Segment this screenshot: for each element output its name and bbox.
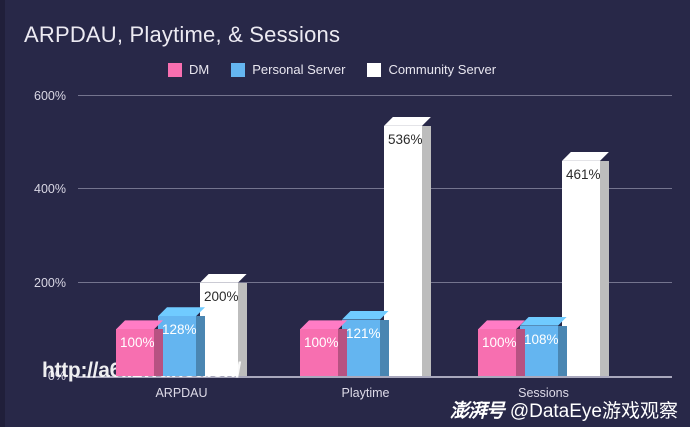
bar-side-face (422, 126, 431, 376)
legend-label: Personal Server (252, 62, 345, 77)
bar[interactable]: 100% (116, 329, 154, 376)
bar-side-face (338, 329, 347, 376)
bar-side-face (154, 329, 163, 376)
bar[interactable]: 121% (342, 320, 380, 376)
bar-top-face (158, 307, 205, 316)
legend-swatch-icon (367, 63, 381, 77)
bar-top-face (200, 274, 247, 283)
legend-label: DM (189, 62, 209, 77)
bar[interactable]: 100% (478, 329, 516, 376)
bar-group: 100%128%200%ARPDAU (116, 96, 247, 376)
bar-value-label: 100% (482, 335, 517, 350)
plot-area: 0%200%400%600%100%128%200%ARPDAU100%121%… (78, 96, 672, 376)
bar[interactable]: 100% (300, 329, 338, 376)
bar-top-face (116, 320, 163, 329)
legend-item[interactable]: Personal Server (231, 62, 345, 77)
y-axis-tick-label: 600% (34, 89, 66, 103)
bar-top-face (300, 320, 347, 329)
brand-logo: 澎湃号 (450, 396, 504, 423)
brand-name: @DataEye游戏观察 (510, 396, 678, 423)
bar[interactable]: 128% (158, 316, 196, 376)
bar-front-face (384, 126, 422, 376)
bar-side-face (558, 326, 567, 376)
legend-item[interactable]: DM (168, 62, 209, 77)
chart-screenshot: ARPDAU, Playtime, & Sessions DMPersonal … (0, 0, 690, 427)
bar-top-face (384, 117, 431, 126)
bar-value-label: 108% (524, 332, 559, 347)
brand-watermark: 澎湃号 @DataEye游戏观察 (450, 396, 678, 423)
bar[interactable]: 536% (384, 126, 422, 376)
bar-value-label: 100% (120, 335, 155, 350)
x-axis-category-label: Playtime (342, 386, 390, 400)
bar-group: 100%121%536%Playtime (300, 96, 431, 376)
bar-side-face (516, 329, 525, 376)
bar-value-label: 536% (388, 132, 423, 147)
chart-title: ARPDAU, Playtime, & Sessions (24, 22, 340, 48)
bar-front-face (562, 161, 600, 376)
bar-value-label: 128% (162, 322, 197, 337)
legend-swatch-icon (231, 63, 245, 77)
bar-top-face (342, 311, 389, 320)
x-axis-category-label: ARPDAU (155, 386, 207, 400)
bar-group: 100%108%461%Sessions (478, 96, 609, 376)
bar-side-face (600, 161, 609, 376)
legend-label: Community Server (388, 62, 496, 77)
bar-top-face (562, 152, 609, 161)
chart-legend: DMPersonal ServerCommunity Server (168, 62, 496, 77)
bar-top-face (478, 320, 525, 329)
bar-value-label: 461% (566, 167, 601, 182)
bar-value-label: 100% (304, 335, 339, 350)
bar[interactable]: 461% (562, 161, 600, 376)
bar-top-face (520, 317, 567, 326)
bar-side-face (380, 320, 389, 376)
legend-item[interactable]: Community Server (367, 62, 496, 77)
bar[interactable]: 108% (520, 326, 558, 376)
bar-side-face (196, 316, 205, 376)
y-axis-tick-label: 200% (34, 276, 66, 290)
bar-value-label: 121% (346, 326, 381, 341)
y-axis-tick-label: 400% (34, 182, 66, 196)
legend-swatch-icon (168, 63, 182, 77)
left-edge-strip (0, 0, 5, 427)
bar-value-label: 200% (204, 289, 239, 304)
